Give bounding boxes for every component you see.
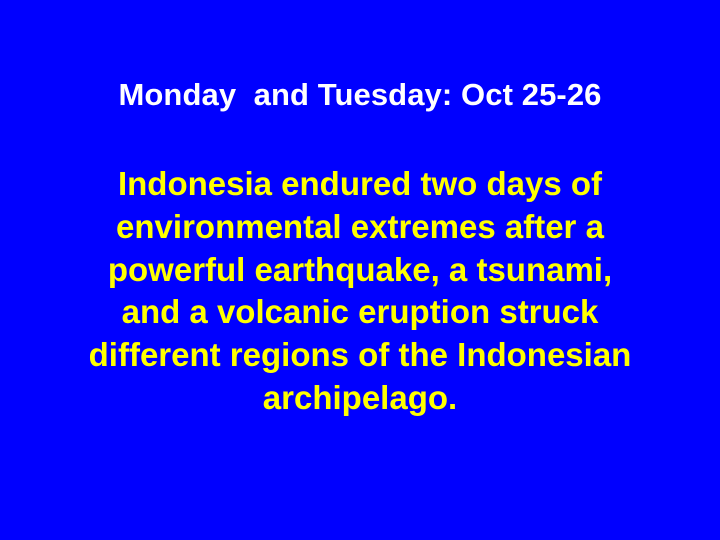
body-line: powerful earthquake, a tsunami, (0, 249, 720, 292)
body-line: environmental extremes after a (0, 206, 720, 249)
slide-body-text: Indonesia endured two days of environmen… (0, 163, 720, 420)
body-line: and a volcanic eruption struck (0, 291, 720, 334)
body-line: Indonesia endured two days of (0, 163, 720, 206)
slide-title: Monday and Tuesday: Oct 25-26 (0, 76, 720, 114)
body-line: different regions of the Indonesian (0, 334, 720, 377)
body-line: archipelago. (0, 377, 720, 420)
presentation-slide: Monday and Tuesday: Oct 25-26 Indonesia … (0, 0, 720, 540)
